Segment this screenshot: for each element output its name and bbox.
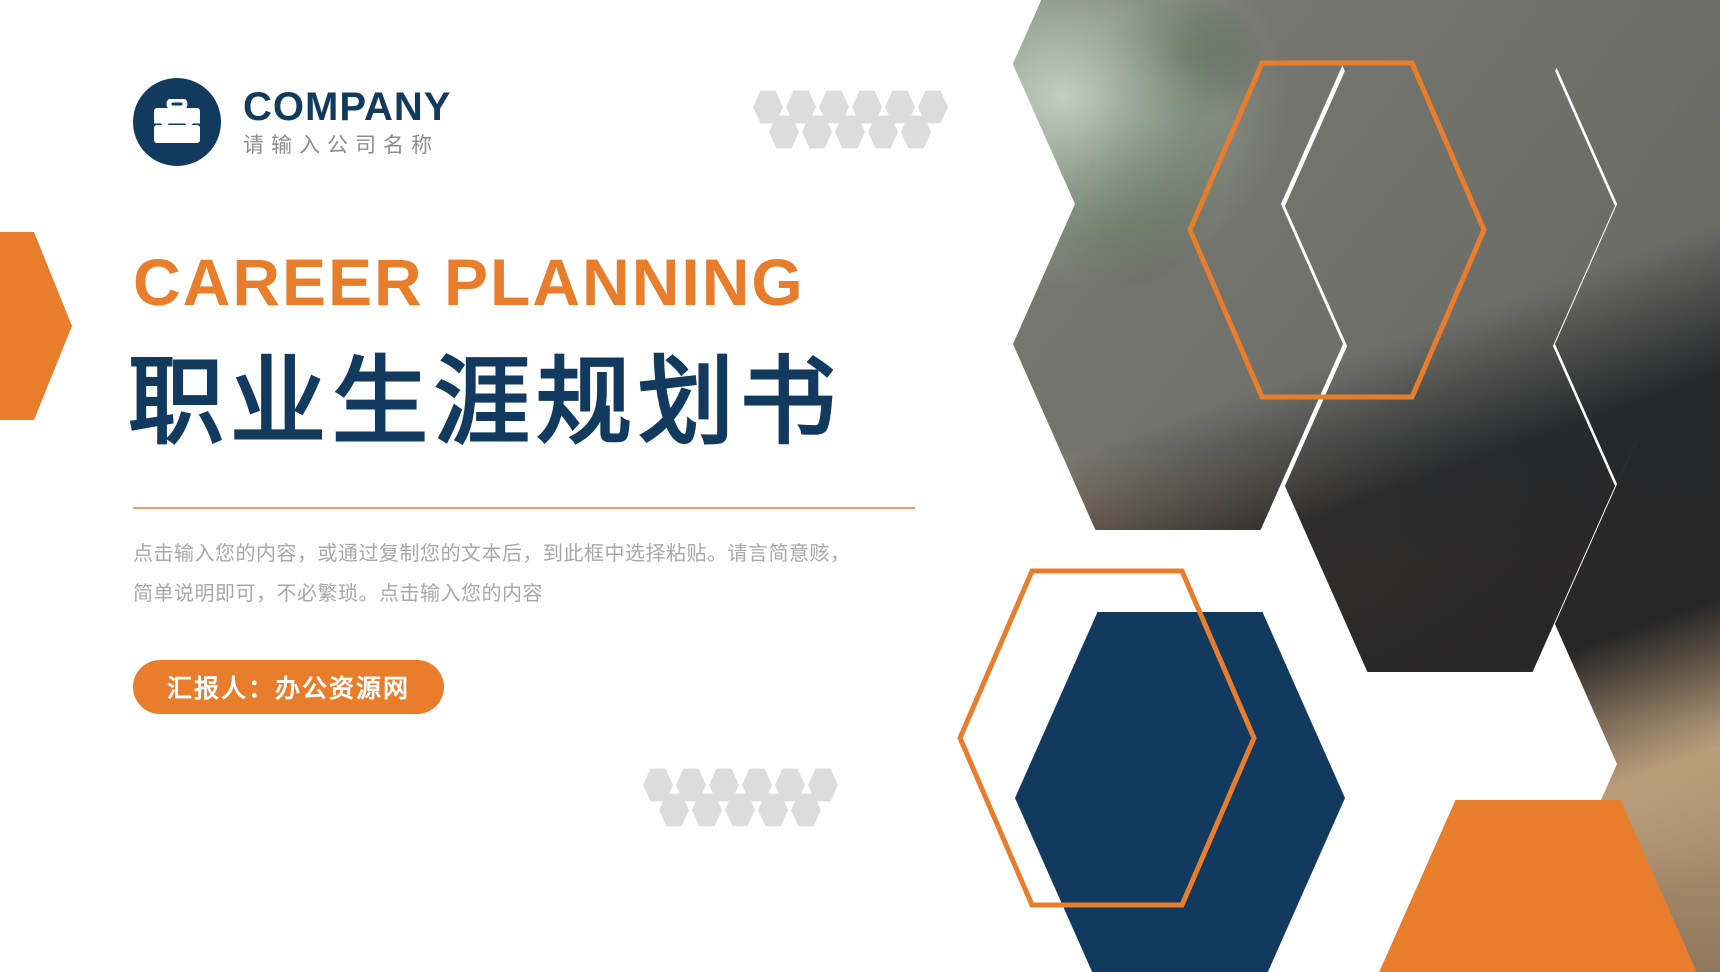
body-paragraph: 点击输入您的内容，或通过复制您的文本后，到此框中选择粘贴。请言简意赅， 简单说明…	[133, 534, 853, 614]
hexagon-photo-collage	[955, 0, 1720, 972]
briefcase-icon	[133, 78, 221, 166]
honeycomb-decor-bottom	[643, 768, 841, 827]
headline-chinese: 职业生涯规划书	[128, 348, 842, 458]
logo-text-group: COMPANY 请输入公司名称	[243, 86, 451, 157]
headline-english: CAREER PLANNING	[133, 249, 805, 315]
slide-canvas: COMPANY 请输入公司名称 CAREER PLANNING 职业生涯规划书 …	[0, 0, 1720, 972]
company-logo-block: COMPANY 请输入公司名称	[133, 78, 451, 166]
briefcase-glyph	[151, 99, 203, 145]
orange-hexagon-outline-upper	[1187, 60, 1487, 400]
orange-hexagon-outline-lower	[957, 568, 1257, 908]
honeycomb-decor-top	[753, 90, 951, 149]
company-name: COMPANY	[243, 86, 451, 128]
left-hexagon-shape	[0, 232, 72, 420]
left-orange-hexagon-decor	[0, 232, 72, 420]
body-line-1: 点击输入您的内容，或通过复制您的文本后，到此框中选择粘贴。请言简意赅，	[133, 534, 853, 574]
presenter-badge[interactable]: 汇报人：办公资源网	[133, 660, 444, 714]
company-subtitle: 请输入公司名称	[243, 134, 451, 157]
title-divider	[133, 507, 915, 509]
body-line-2: 简单说明即可，不必繁琐。点击输入您的内容	[133, 574, 853, 614]
